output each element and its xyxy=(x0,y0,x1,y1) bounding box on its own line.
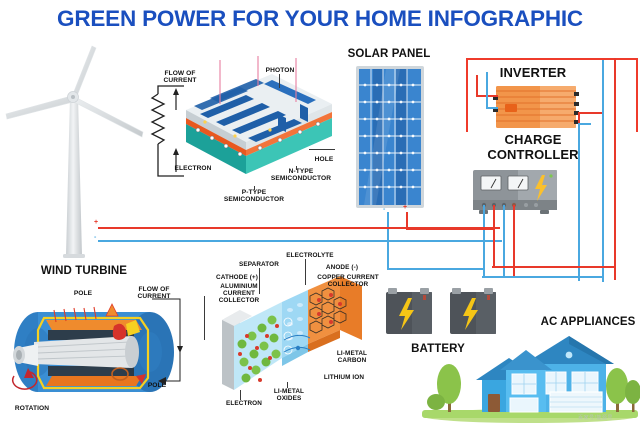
turbine-positive-sign: + xyxy=(94,219,98,227)
solar-panel-title: SOLAR PANEL xyxy=(332,48,446,61)
li-metal-oxides-label: LI-METAL OXIDES xyxy=(268,388,310,402)
house-feed-blue xyxy=(602,60,604,282)
electrolyte-label: ELECTROLYTE xyxy=(284,252,336,259)
controller-wire-blue-1 xyxy=(483,205,485,277)
inverter-out-blue-inner xyxy=(578,123,580,281)
infographic-canvas: GREEN POWER FOR YOUR HOME INFOGRAPHIC xyxy=(0,0,640,427)
inverter-illustration xyxy=(496,86,576,128)
turbine-negative-wire xyxy=(98,240,502,242)
panel-negative-lead xyxy=(387,212,389,270)
panel-positive-lead xyxy=(406,212,408,228)
inverter-title: INVERTER xyxy=(478,66,588,81)
inverter-out-red-jog xyxy=(578,112,602,114)
cathode-leader xyxy=(204,296,205,340)
electrolyte-leader xyxy=(305,259,306,285)
li-metal-carbon-label: LI-METAL CARBON xyxy=(330,350,374,364)
battery-bus-red xyxy=(492,266,616,268)
house-feed-red xyxy=(614,58,616,280)
panel-negative-bus xyxy=(387,268,485,270)
charge-controller-title: CHARGE CONTROLLER xyxy=(478,133,588,162)
inverter-dc-negative-riser xyxy=(486,72,488,109)
anode-label: ANODE (-) xyxy=(322,264,362,271)
oxides-leader xyxy=(287,382,288,388)
photon-label: PHOTON xyxy=(258,67,302,74)
turbine-negative-sign: - xyxy=(94,234,96,242)
solar-panel-illustration xyxy=(356,66,424,208)
aluminium-current-collector-label: ALUMINIUM CURRENT COLLECTOR xyxy=(204,283,274,305)
battery-bus-blue xyxy=(482,276,604,278)
electron-label: ELECTRON xyxy=(172,165,214,172)
inverter-dc-positive-riser xyxy=(476,75,478,97)
p-type-leader xyxy=(254,186,255,190)
separator-leader xyxy=(259,268,260,294)
copper-current-collector-label: COPPER CURRENT COLLECTOR xyxy=(312,274,384,288)
n-type-semiconductor-label: N-TYPE SEMICONDUCTOR xyxy=(262,168,340,183)
cathode-label: CATHODE (+) xyxy=(214,274,260,281)
generator-pole-top-label: POLE xyxy=(66,290,100,297)
generator-current-bracket xyxy=(150,295,190,387)
watermark: 百家号/能源号 xyxy=(578,414,613,421)
house-illustration xyxy=(420,320,640,422)
lithium-electron-label: ELECTRON xyxy=(222,400,266,407)
inverter-out-blue-jog xyxy=(578,123,591,125)
page-title: GREEN POWER FOR YOUR HOME INFOGRAPHIC xyxy=(0,6,640,31)
hole-label: HOLE xyxy=(310,156,338,163)
controller-wire-red-1 xyxy=(493,205,495,267)
turbine-positive-bus xyxy=(100,227,500,229)
lithium-ion-label: LITHIUM ION xyxy=(318,374,370,381)
generator-rotation-label: ROTATION xyxy=(6,405,58,412)
wind-turbine-title: WIND TURBINE xyxy=(36,265,132,278)
panel-negative-sign: - xyxy=(383,206,385,214)
hole-leader xyxy=(309,149,335,150)
photon-leader xyxy=(279,74,280,88)
electron-leader xyxy=(240,390,241,400)
panel-positive-sign: + xyxy=(403,204,407,212)
solar-flow-of-current-label: FLOW OF CURRENT xyxy=(150,70,210,85)
p-type-semiconductor-label: P-TYPE SEMICONDUCTOR xyxy=(212,189,296,204)
n-type-leader xyxy=(296,166,297,170)
